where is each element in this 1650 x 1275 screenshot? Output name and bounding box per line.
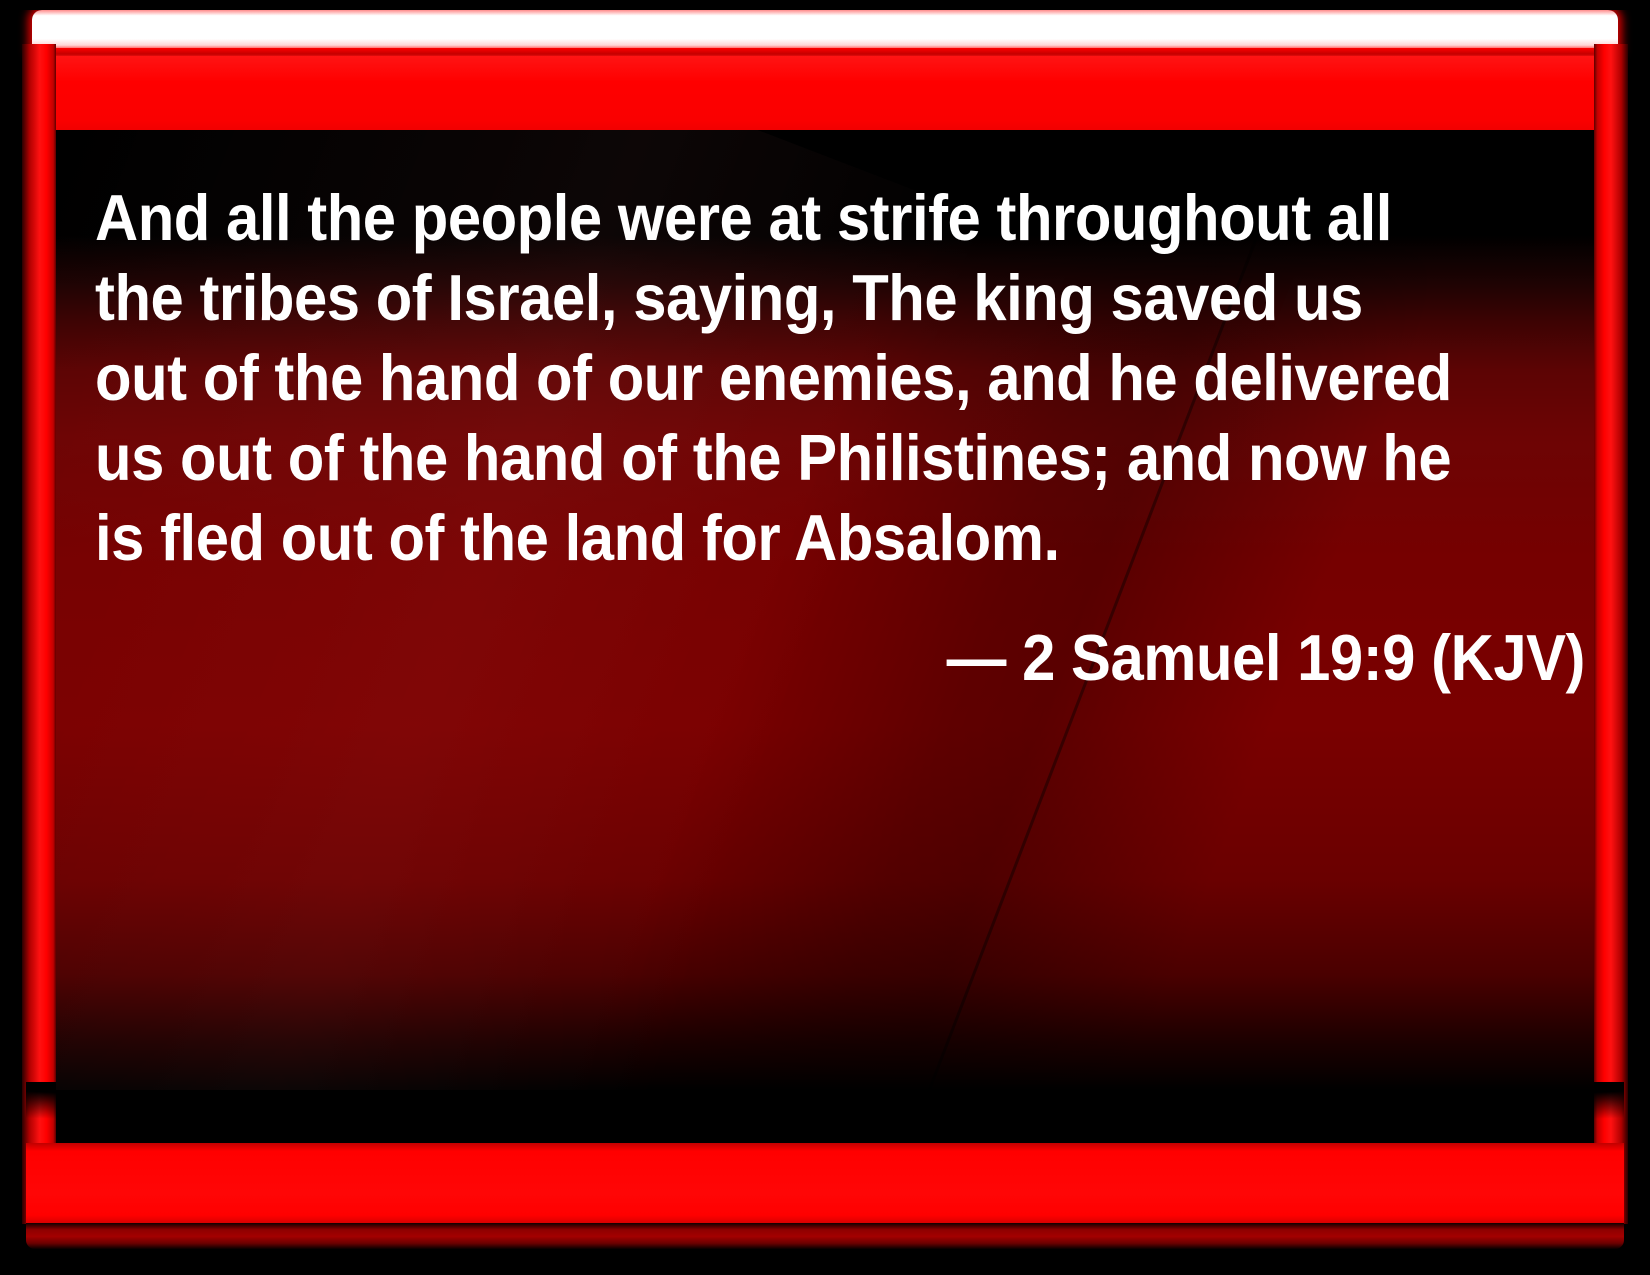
quote-slide: And all the people were at strife throug… — [0, 0, 1650, 1275]
slide-card: And all the people were at strife throug… — [10, 10, 1640, 1265]
quote-text-block: And all the people were at strife throug… — [95, 178, 1585, 694]
bottom-dark-accent-line — [26, 1223, 1624, 1249]
verse-attribution: — 2 Samuel 19:9 (KJV) — [214, 622, 1585, 694]
top-white-highlight-band — [32, 10, 1618, 50]
left-red-border-rail — [22, 44, 56, 1224]
right-red-border-rail — [1594, 44, 1628, 1224]
bottom-border-shadow-curve — [26, 1082, 1624, 1152]
bottom-red-border-bar — [26, 1143, 1624, 1225]
verse-text: And all the people were at strife throug… — [95, 178, 1466, 578]
